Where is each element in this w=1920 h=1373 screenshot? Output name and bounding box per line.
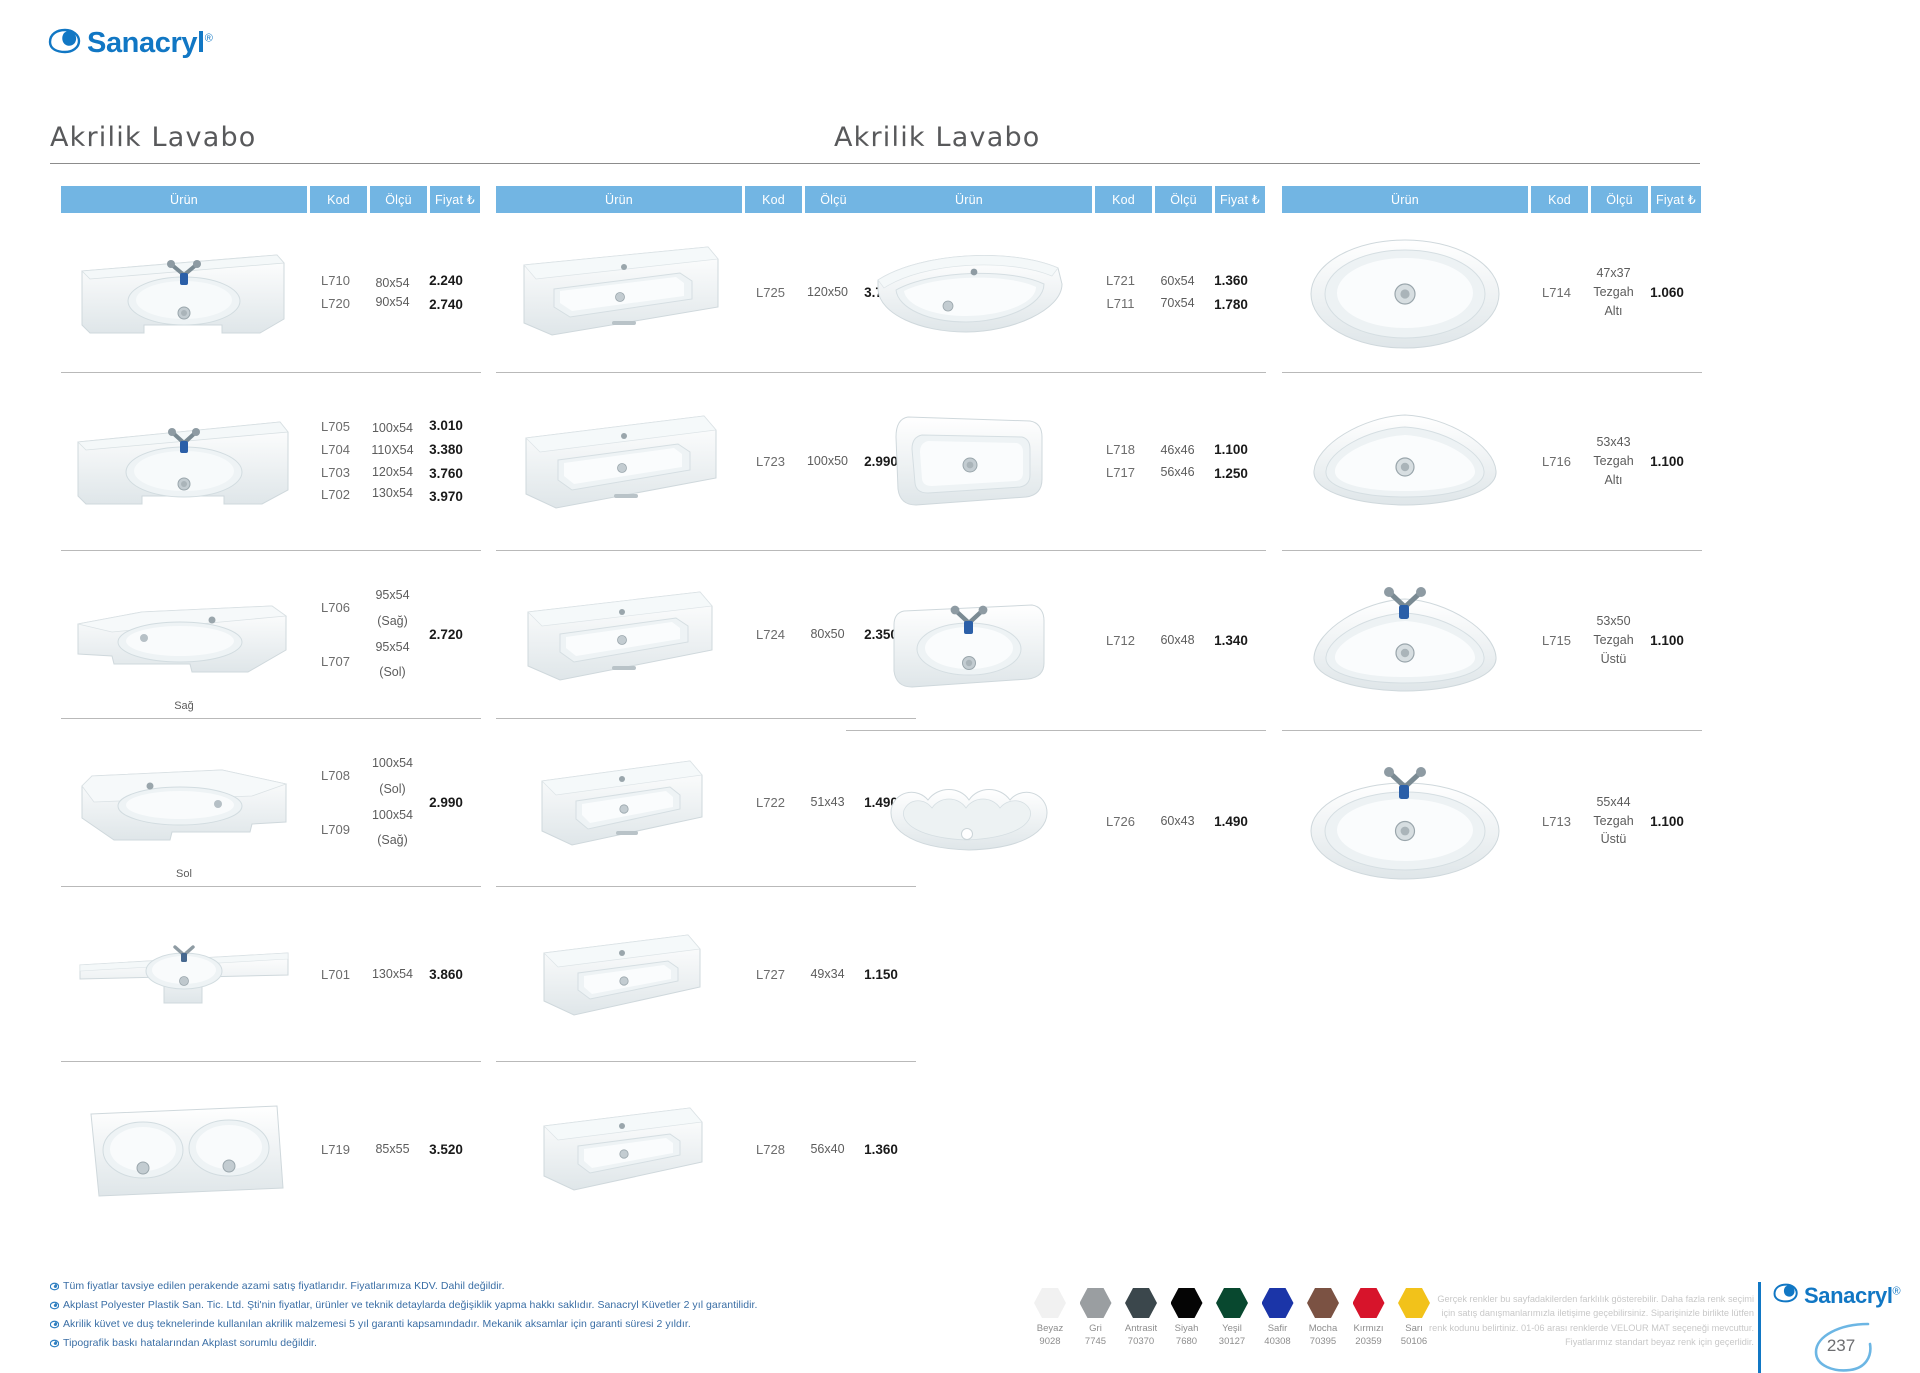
footnote-item: Akrilik küvet ve duş teknelerinde kullan… [50, 1319, 757, 1331]
product-image [846, 213, 1092, 372]
product-sizes: 60x54 70x54 [1149, 271, 1206, 315]
product-codes: L701 [307, 967, 364, 982]
color-swatch[interactable]: Kırmızı 20359 [1351, 1288, 1387, 1349]
swatch-code: 7680 [1169, 1336, 1205, 1349]
table-row[interactable]: L714 47x37 Tezgah Altı 1.060 [1282, 213, 1702, 373]
product-image [496, 551, 742, 718]
droplet-bullet-icon [50, 1339, 59, 1348]
table-row[interactable]: L728 56x40 1.360 [496, 1062, 916, 1237]
swatch-chip-antrasit [1125, 1288, 1157, 1318]
product-codes: L708 L709 [307, 749, 364, 856]
price-table-col-3: Ürün Kod Ölçü Fiyat ₺ [846, 186, 1266, 911]
swatch-chip-kirmizi [1353, 1288, 1385, 1318]
swatch-code: 40308 [1260, 1336, 1296, 1349]
product-sizes: 60x48 [1149, 631, 1206, 649]
page-title-right: Akrilik Lavabo [834, 122, 1041, 153]
product-image [496, 213, 742, 372]
swatch-name: Safir [1260, 1323, 1296, 1336]
product-codes: L715 [1528, 633, 1585, 648]
left-page: Akrilik Lavabo Ürün Kod Ölçü Fiyat ₺ [0, 0, 960, 1373]
product-sizes: 80x54 90x54 [364, 274, 421, 312]
product-prices: 2.240 2.740 [421, 269, 471, 316]
header-kod: Kod [1095, 186, 1152, 213]
product-image [1282, 551, 1528, 730]
header-kod: Kod [310, 186, 367, 213]
product-codes: L722 [742, 795, 799, 810]
footnote-text: Tipografik baskı hatalarından Akplast so… [63, 1338, 317, 1350]
price-table-col-1: Ürün Kod Ölçü Fiyat ₺ [61, 186, 481, 1237]
product-image [846, 373, 1092, 550]
product-codes: L719 [307, 1142, 364, 1157]
swatch-chip-gri [1080, 1288, 1112, 1318]
product-codes: L710 L720 [307, 270, 364, 316]
table-row[interactable]: Sağ L706 L707 95x54 (Sağ) 95x54 (Sol) 2.… [61, 551, 481, 719]
product-prices: 2.990 [421, 795, 471, 810]
product-prices: 1.360 1.780 [1206, 269, 1256, 316]
table-row[interactable]: L712 60x48 1.340 [846, 551, 1266, 731]
footnote-item: Akplast Polyester Plastik San. Tic. Ltd.… [50, 1300, 757, 1312]
product-image [61, 1062, 307, 1237]
product-image [496, 1062, 742, 1237]
product-image [846, 731, 1092, 911]
product-caption: Sol [61, 868, 307, 880]
product-codes: L718 L717 [1092, 439, 1149, 485]
footnote-text: Akplast Polyester Plastik San. Tic. Ltd.… [63, 1300, 757, 1312]
product-sizes: 55x44 Tezgah Üstü [1585, 793, 1642, 849]
table-row[interactable]: L701 130x54 3.860 [61, 887, 481, 1062]
table-row[interactable]: L715 53x50 Tezgah Üstü 1.100 [1282, 551, 1702, 731]
price-table-col-4: Ürün Kod Ölçü Fiyat ₺ L714 [1282, 186, 1702, 911]
product-codes: L728 [742, 1142, 799, 1157]
swatch-name: Mocha [1305, 1323, 1341, 1336]
product-image [496, 373, 742, 550]
title-divider-left [50, 163, 916, 164]
product-image [1282, 213, 1528, 372]
color-swatch-list: Beyaz 9028 Gri 7745 Antrasit 70370 Siyah… [1032, 1288, 1432, 1349]
product-codes: L725 [742, 285, 799, 300]
product-codes: L723 [742, 454, 799, 469]
product-prices: 1.490 [1206, 814, 1256, 829]
product-prices: 1.060 [1642, 285, 1692, 300]
product-prices: 1.340 [1206, 633, 1256, 648]
swatch-code: 70370 [1123, 1336, 1159, 1349]
product-image [1282, 731, 1528, 911]
swatch-chip-beyaz [1034, 1288, 1066, 1318]
product-prices: 2.720 [421, 627, 471, 642]
product-prices: 1.100 [1642, 814, 1692, 829]
product-codes: L712 [1092, 633, 1149, 648]
title-divider-right [834, 163, 1700, 164]
table-header-row: Ürün Kod Ölçü Fiyat ₺ [846, 186, 1266, 213]
table-row[interactable]: L710 L720 80x54 90x54 2.240 2.740 [61, 213, 481, 373]
swatch-chip-siyah [1171, 1288, 1203, 1318]
footnotes-list: Tüm fiyatlar tavsiye edilen perakende az… [50, 1281, 757, 1357]
table-header-row: Ürün Kod Ölçü Fiyat ₺ [61, 186, 481, 213]
table-row[interactable]: L727 49x34 1.150 [496, 887, 916, 1062]
product-caption: Sağ [61, 700, 307, 712]
product-image [61, 887, 307, 1061]
product-prices: 1.100 [1642, 454, 1692, 469]
product-sizes: 56x40 [799, 1140, 856, 1158]
swatch-code: 30127 [1214, 1336, 1250, 1349]
table-row[interactable]: L726 60x43 1.490 [846, 731, 1266, 911]
swatch-code: 20359 [1351, 1336, 1387, 1349]
color-swatch[interactable]: Siyah 7680 [1169, 1288, 1205, 1349]
header-urun: Ürün [846, 186, 1092, 213]
swatch-code: 70395 [1305, 1336, 1341, 1349]
product-sizes: 53x43 Tezgah Altı [1585, 433, 1642, 489]
swatch-chip-safir [1262, 1288, 1294, 1318]
table-row[interactable]: L721 L711 60x54 70x54 1.360 1.780 [846, 213, 1266, 373]
table-row[interactable]: L718 L717 46x46 56x46 1.100 1.250 [846, 373, 1266, 551]
footnote-text: Tüm fiyatlar tavsiye edilen perakende az… [63, 1281, 505, 1293]
swatch-code: 7745 [1078, 1336, 1114, 1349]
header-fiyat: Fiyat ₺ [1651, 186, 1701, 213]
color-swatch[interactable]: Mocha 70395 [1305, 1288, 1341, 1349]
swatch-name: Gri [1078, 1323, 1114, 1336]
product-image [496, 719, 742, 886]
header-olcu: Ölçü [1155, 186, 1212, 213]
product-sizes: 60x43 [1149, 812, 1206, 830]
product-prices: 3.010 3.380 3.760 3.970 [421, 414, 471, 509]
product-codes: L705 L704 L703 L702 [307, 416, 364, 507]
table-row[interactable]: Sol L708 L709 100x54 (Sol) 100x54 (Sağ) … [61, 719, 481, 887]
color-swatch[interactable]: Yeşil 30127 [1214, 1288, 1250, 1349]
header-urun: Ürün [1282, 186, 1528, 213]
product-codes: L706 L707 [307, 581, 364, 688]
droplet-bullet-icon [50, 1282, 59, 1291]
header-kod: Kod [1531, 186, 1588, 213]
swatch-name: Antrasit [1123, 1323, 1159, 1336]
header-fiyat: Fiyat ₺ [430, 186, 480, 213]
product-codes: L721 L711 [1092, 270, 1149, 316]
product-image [496, 887, 742, 1061]
product-sizes: 100x54 110X54 120x54 130x54 [364, 418, 421, 506]
footnote-text: Akrilik küvet ve duş teknelerinde kullan… [63, 1319, 691, 1331]
product-image [61, 373, 307, 550]
product-codes: L724 [742, 627, 799, 642]
product-codes: L727 [742, 967, 799, 982]
product-codes: L713 [1528, 814, 1585, 829]
product-image: Sol [61, 719, 307, 886]
product-sizes: 49x34 [799, 965, 856, 983]
swatch-chip-yesil [1216, 1288, 1248, 1318]
header-olcu: Ölçü [1591, 186, 1648, 213]
product-codes: L714 [1528, 285, 1585, 300]
header-urun: Ürün [496, 186, 742, 213]
footnote-item: Tüm fiyatlar tavsiye edilen perakende az… [50, 1281, 757, 1293]
color-swatch[interactable]: Gri 7745 [1078, 1288, 1114, 1349]
table-row[interactable]: L705 L704 L703 L702 100x54 110X54 120x54… [61, 373, 481, 551]
product-sizes: 46x46 56x46 [1149, 440, 1206, 484]
swatch-name: Siyah [1169, 1323, 1205, 1336]
product-image [1282, 373, 1528, 550]
product-sizes: 130x54 [364, 965, 421, 983]
swatch-code: 9028 [1032, 1336, 1068, 1349]
product-prices: 3.520 [421, 1142, 471, 1157]
brand-logo-footer: Sanacryl® [1773, 1283, 1900, 1308]
header-urun: Ürün [61, 186, 307, 213]
table-row[interactable]: L716 53x43 Tezgah Altı 1.100 [1282, 373, 1702, 551]
color-swatch[interactable]: Safir 40308 [1260, 1288, 1296, 1349]
product-image: Sağ [61, 551, 307, 718]
product-sizes: 100x54 (Sol) 100x54 (Sağ) [364, 751, 421, 854]
page-number-badge: 237 [1810, 1322, 1872, 1373]
color-swatch[interactable]: Beyaz 9028 [1032, 1288, 1068, 1349]
sanacryl-droplet-icon [1773, 1283, 1799, 1308]
right-page: Akrilik Lavabo Ürün Kod Ölçü Fiyat ₺ [960, 0, 1920, 1373]
brand-name: Sanacryl® [1804, 1285, 1900, 1307]
swatch-chip-mocha [1307, 1288, 1339, 1318]
product-codes: L716 [1528, 454, 1585, 469]
header-olcu: Ölçü [370, 186, 427, 213]
table-row[interactable]: L713 55x44 Tezgah Üstü 1.100 [1282, 731, 1702, 911]
color-disclaimer: Gerçek renkler bu sayfadakilerden farklı… [1424, 1292, 1754, 1349]
swatch-name: Kırmızı [1351, 1323, 1387, 1336]
droplet-bullet-icon [50, 1320, 59, 1329]
product-sizes: 53x50 Tezgah Üstü [1585, 612, 1642, 668]
swatch-name: Beyaz [1032, 1323, 1068, 1336]
product-sizes: 47x37 Tezgah Altı [1585, 264, 1642, 320]
catalog-page: Sanacryl® Akrilik Lavabo Ürün Kod Ölçü F… [0, 0, 1920, 1373]
product-image [61, 213, 307, 372]
product-prices: 1.100 1.250 [1206, 438, 1256, 485]
droplet-bullet-icon [50, 1301, 59, 1310]
page-number: 237 [1810, 1336, 1872, 1356]
product-image [846, 551, 1092, 730]
swatch-name: Yeşil [1214, 1323, 1250, 1336]
product-prices: 3.860 [421, 967, 471, 982]
page-title-left: Akrilik Lavabo [50, 122, 257, 153]
footnote-item: Tipografik baskı hatalarından Akplast so… [50, 1338, 757, 1350]
table-row[interactable]: L719 85x55 3.520 [61, 1062, 481, 1237]
product-prices: 1.360 [856, 1142, 906, 1157]
table-header-row: Ürün Kod Ölçü Fiyat ₺ [1282, 186, 1702, 213]
footer-divider [1758, 1282, 1761, 1373]
header-kod: Kod [745, 186, 802, 213]
color-swatch[interactable]: Antrasit 70370 [1123, 1288, 1159, 1349]
product-sizes: 95x54 (Sağ) 95x54 (Sol) [364, 583, 421, 686]
product-sizes: 85x55 [364, 1140, 421, 1158]
product-prices: 1.150 [856, 967, 906, 982]
product-codes: L726 [1092, 814, 1149, 829]
product-prices: 1.100 [1642, 633, 1692, 648]
header-fiyat: Fiyat ₺ [1215, 186, 1265, 213]
